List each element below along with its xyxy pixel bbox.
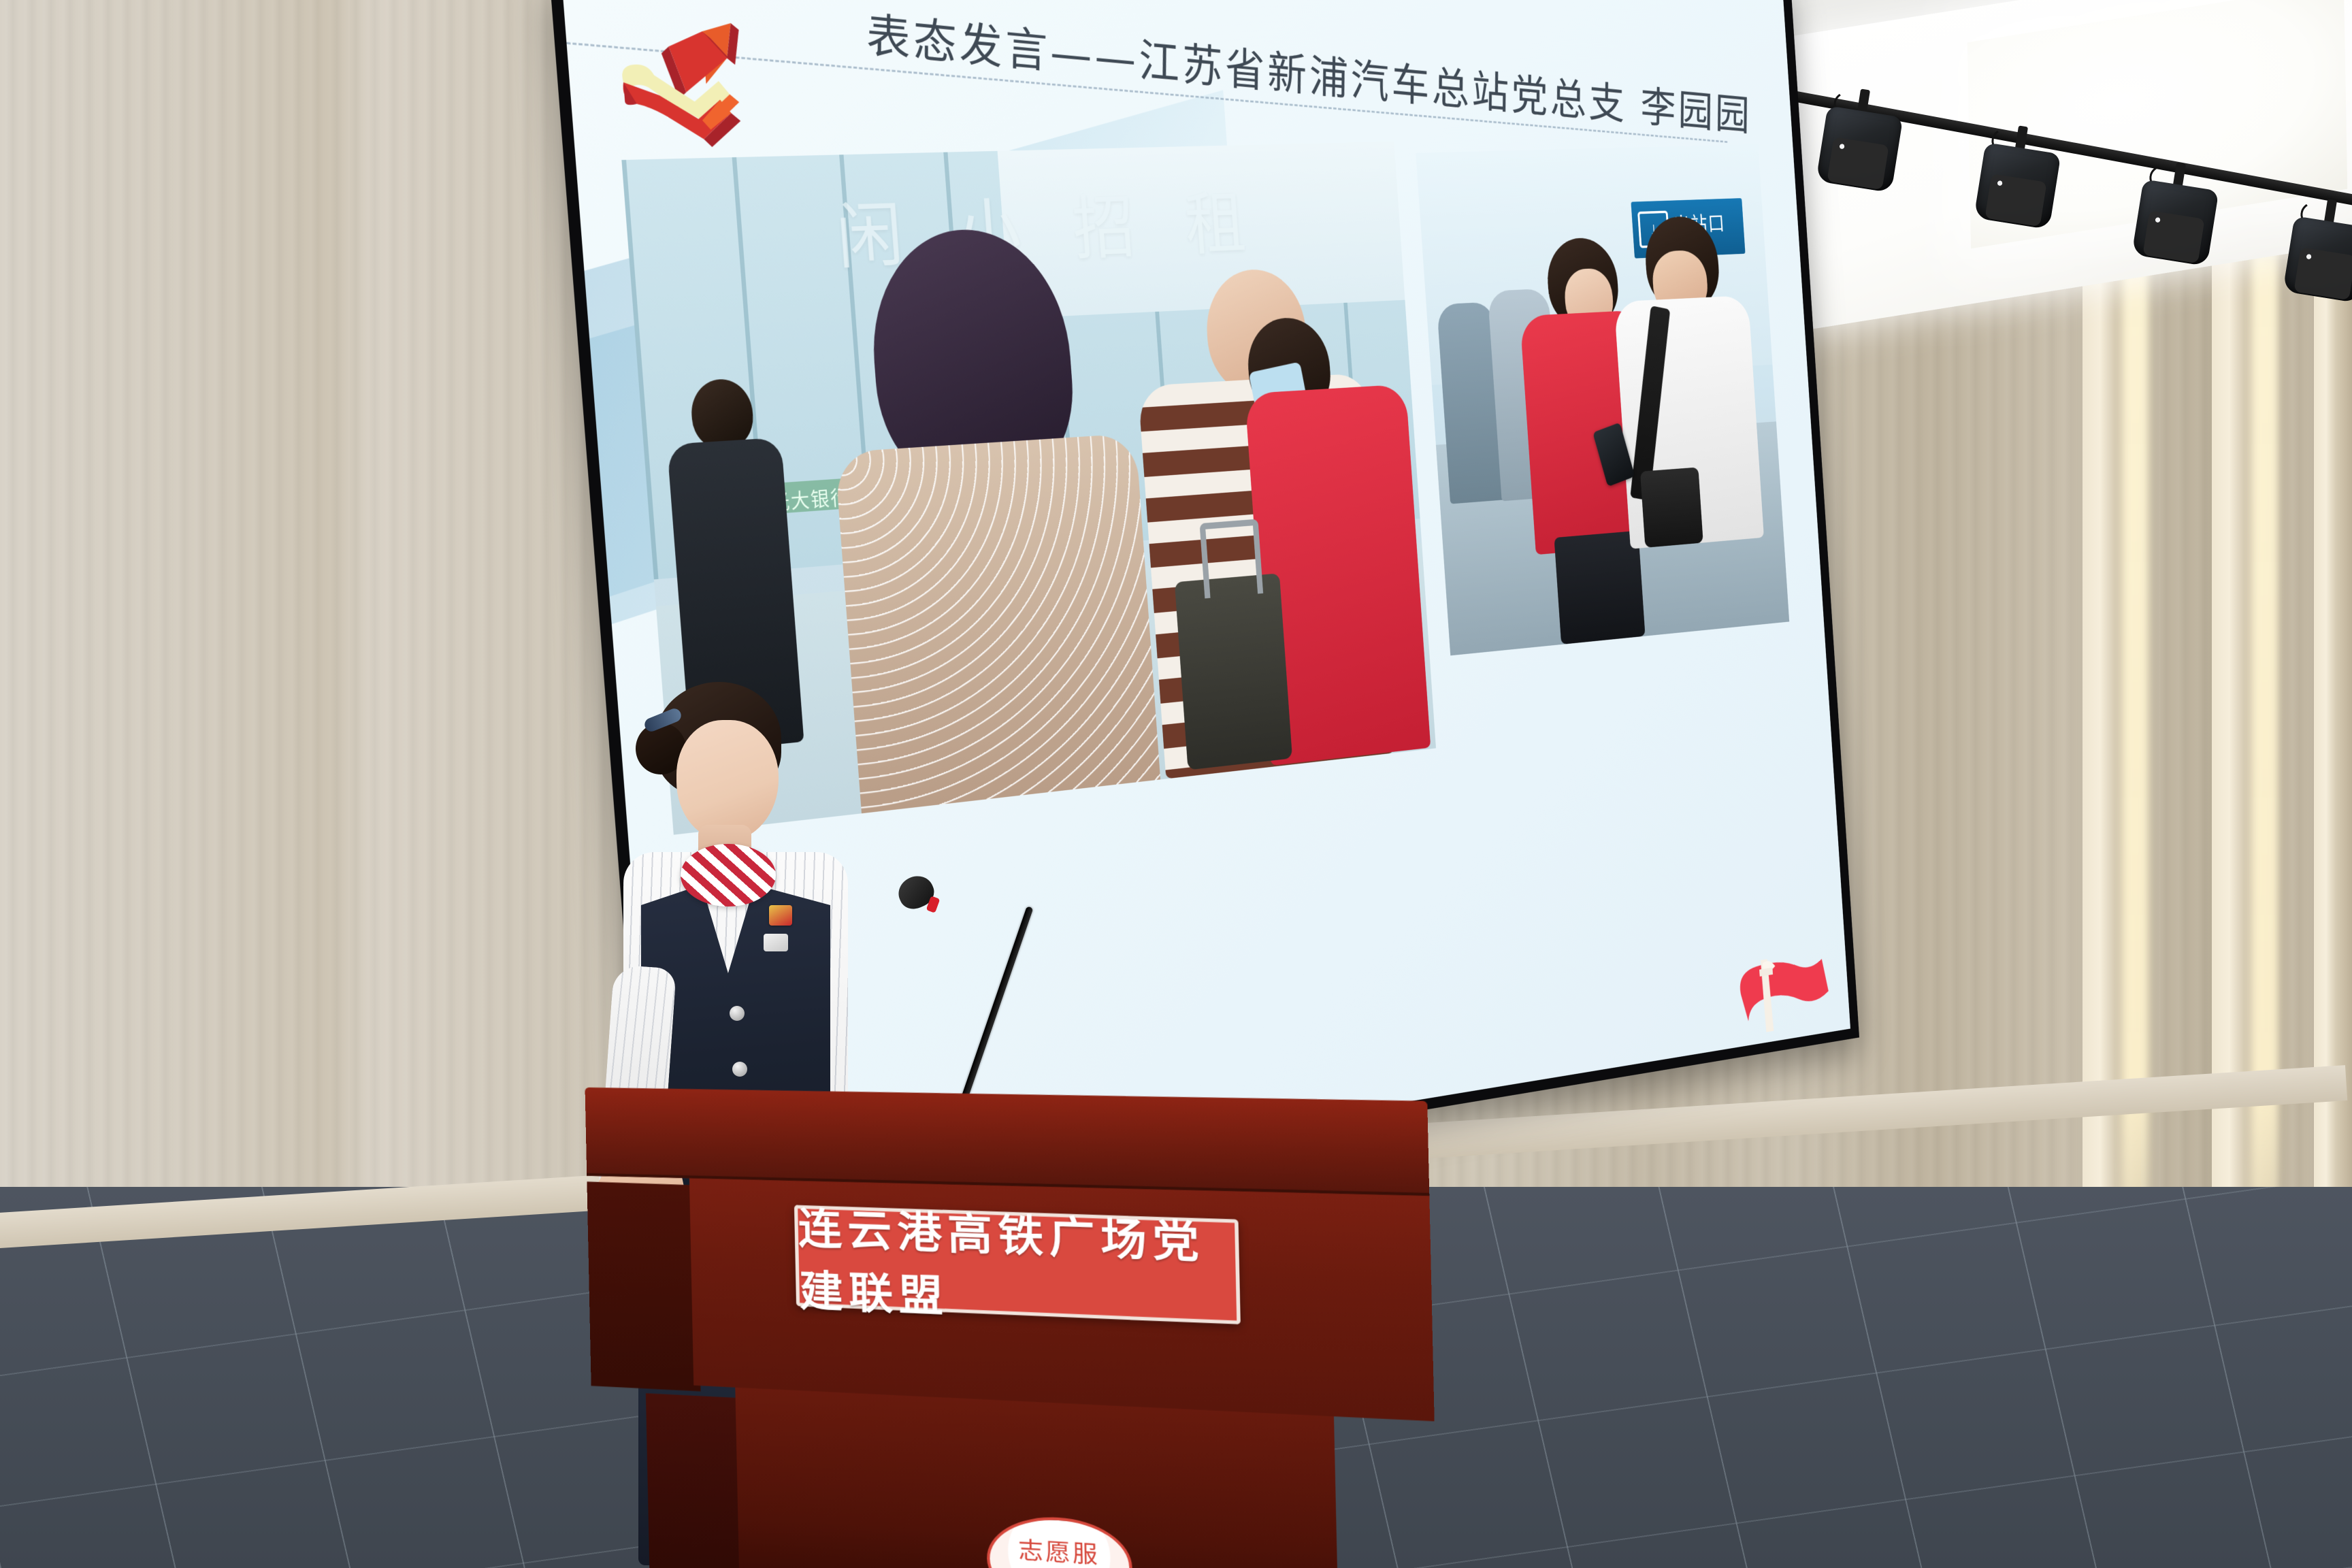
photo-left-suitcase-handle (1199, 519, 1263, 599)
light-body (2131, 179, 2219, 266)
speaker-face (676, 720, 779, 841)
photo-right-traveller-white-tee (1608, 214, 1770, 637)
podium: 连云港高铁广场党建联盟 志愿服 (585, 1085, 1438, 1568)
podium-seal-text: 志愿服 (1018, 1531, 1100, 1568)
wall-light-strip-1 (2122, 122, 2149, 1334)
vest-button-2 (732, 1062, 747, 1077)
screenshot-root: 表态发言——江苏省新浦汽车总站党总支 李园园 闲 小 招 租 中国光大银行 (0, 0, 2352, 1568)
light-lens-icon (1827, 137, 1889, 190)
vest-button-1 (730, 1006, 745, 1021)
speaker-neck-scarf (681, 844, 776, 906)
party-emblem-pin (769, 905, 792, 926)
red-flag-icon (1733, 936, 1837, 1036)
staff-badge-pin (764, 934, 788, 951)
light-lens-icon (1984, 174, 2046, 227)
light-lens-icon (2293, 247, 2352, 300)
light-body (1974, 142, 2061, 229)
stage-light-5 (1970, 138, 2061, 251)
wall-light-strip-2 (2251, 122, 2278, 1334)
podium-base-side (646, 1393, 747, 1568)
light-body (2283, 216, 2352, 303)
podium-plaque-text: 连云港高铁广场党建联盟 (798, 1193, 1237, 1336)
podium-side-panel (587, 1181, 700, 1391)
light-body (1816, 105, 1903, 193)
slide-title: 表态发言——江苏省新浦汽车总站党总支 李园园 (866, 0, 1769, 144)
hammer-and-sickle-party-emblem (604, 19, 762, 149)
stage-light-6 (2128, 175, 2219, 288)
traveller-shoulder-bag (1640, 467, 1703, 547)
slide-photo-right: ↓ 出站口 Exit (1416, 144, 1789, 655)
podium-plaque: 连云港高铁广场党建联盟 (794, 1205, 1241, 1324)
stage-light-4 (1812, 101, 1904, 214)
light-lens-icon (2142, 210, 2204, 263)
photo-left-suitcase (1175, 573, 1292, 770)
